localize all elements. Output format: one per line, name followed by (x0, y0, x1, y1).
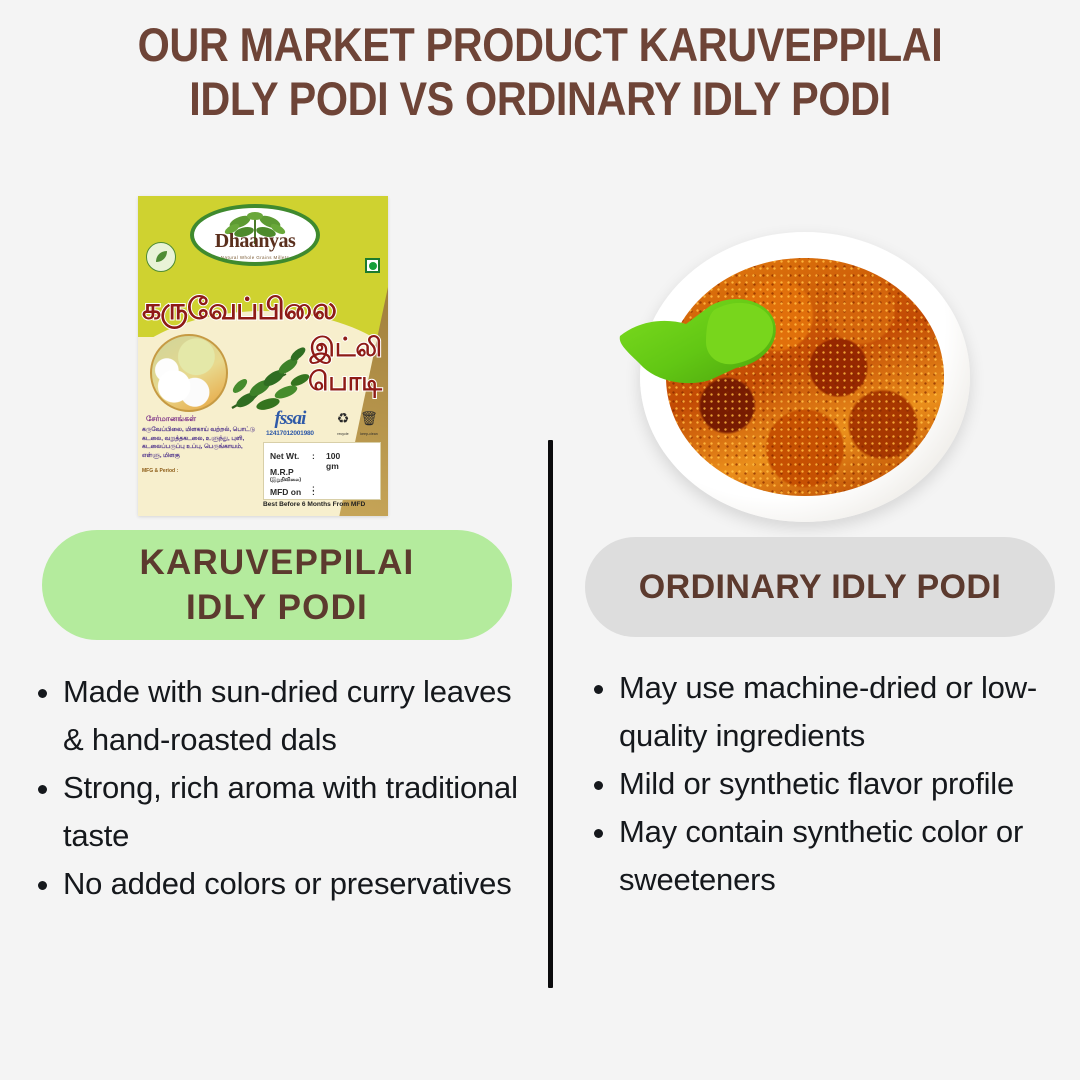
green-spoon-icon (614, 284, 804, 404)
mrp-label: M.R.P (270, 467, 294, 477)
title-line-1: OUR MARKET PRODUCT KARUVEPPILAI (65, 18, 1015, 72)
mrp-row: M.R.P (இறுதிவிலை) : (270, 467, 301, 483)
ordinary-podi-photo (640, 232, 970, 522)
net-weight-value: 100 gm (326, 451, 340, 471)
page-title: OUR MARKET PRODUCT KARUVEPPILAI IDLY POD… (0, 18, 1080, 126)
left-benefits-column: Made with sun-dried curry leaves & hand-… (30, 668, 530, 908)
left-bullet-list: Made with sun-dried curry leaves & hand-… (30, 668, 530, 908)
right-drawbacks-column: May use machine-dried or low-quality ing… (586, 664, 1066, 904)
product-package-image: Dhaanyas Natural Whole Grains Millets கர… (138, 196, 388, 516)
net-weight-colon: : (312, 451, 315, 461)
brand-logo: Dhaanyas Natural Whole Grains Millets (190, 204, 320, 266)
compliance-marks: ♻recycle 🗑keep-clean (334, 410, 378, 442)
fssai-logo-text: fssai (266, 408, 314, 430)
net-weight-row: Net Wt. : 100 gm (270, 451, 299, 461)
left-pill-line-1: KARUVEPPILAI (140, 540, 415, 585)
list-item: May contain synthetic color or sweetener… (586, 808, 1066, 904)
fssai-license-number: 12417012001980 (266, 430, 314, 437)
right-column-label: ORDINARY IDLY PODI (585, 537, 1055, 637)
list-item: Strong, rich aroma with traditional tast… (30, 764, 530, 860)
title-line-2: IDLY PODI VS ORDINARY IDLY PODI (65, 72, 1015, 126)
mfd-colon: : (312, 487, 315, 497)
mrp-sublabel: (இறுதிவிலை) (270, 477, 301, 483)
vertical-divider (548, 440, 553, 988)
right-pill-line-1: ORDINARY IDLY PODI (639, 568, 1001, 607)
list-item: Mild or synthetic flavor profile (586, 760, 1066, 808)
package-details-box: Net Wt. : 100 gm M.R.P (இறுதிவிலை) : MFD… (263, 442, 381, 500)
keep-clean-bin-icon: 🗑keep-clean (360, 410, 378, 442)
list-item: May use machine-dried or low-quality ing… (586, 664, 1066, 760)
mfd-label: MFD on (270, 487, 301, 497)
idly-photo-circle (150, 334, 228, 412)
best-before-text: Best Before 6 Months From MFD (263, 501, 383, 508)
comparison-infographic: OUR MARKET PRODUCT KARUVEPPILAI IDLY POD… (0, 0, 1080, 1080)
curry-leaves-sprig-icon (224, 342, 310, 416)
net-weight-label: Net Wt. (270, 451, 299, 461)
package-tamil-title-1: கருவேப்பிலை (142, 294, 382, 326)
left-pill-line-2: IDLY PODI (140, 585, 415, 630)
recycle-icon-label: recycle (334, 426, 352, 442)
recycle-icon: ♻recycle (334, 410, 352, 442)
leaf-icon (153, 249, 169, 265)
organic-leaf-badge (146, 242, 176, 272)
ingredients-list: கருவேப்பிலை, மிளகாய் வற்றல், பொட்டு கடலை… (142, 426, 262, 460)
left-column-label: KARUVEPPILAI IDLY PODI (42, 530, 512, 640)
fssai-block: fssai 12417012001980 (266, 408, 314, 437)
ingredients-heading: சேர்மானங்கள் (146, 414, 196, 424)
brand-tagline: Natural Whole Grains Millets (194, 255, 316, 260)
list-item: No added colors or preservatives (30, 860, 530, 908)
right-bullet-list: May use machine-dried or low-quality ing… (586, 664, 1066, 904)
mfd-row: MFD on : (270, 487, 301, 497)
mfg-period-label: MFG & Period : (142, 468, 178, 474)
package-tamil-title-2: இட்லி (310, 332, 382, 366)
brand-name: Dhaanyas (194, 230, 316, 253)
package-tamil-title-3: பொடி (308, 366, 382, 400)
vegetarian-mark-icon (365, 258, 380, 273)
bin-icon-label: keep-clean (360, 426, 378, 442)
list-item: Made with sun-dried curry leaves & hand-… (30, 668, 530, 764)
